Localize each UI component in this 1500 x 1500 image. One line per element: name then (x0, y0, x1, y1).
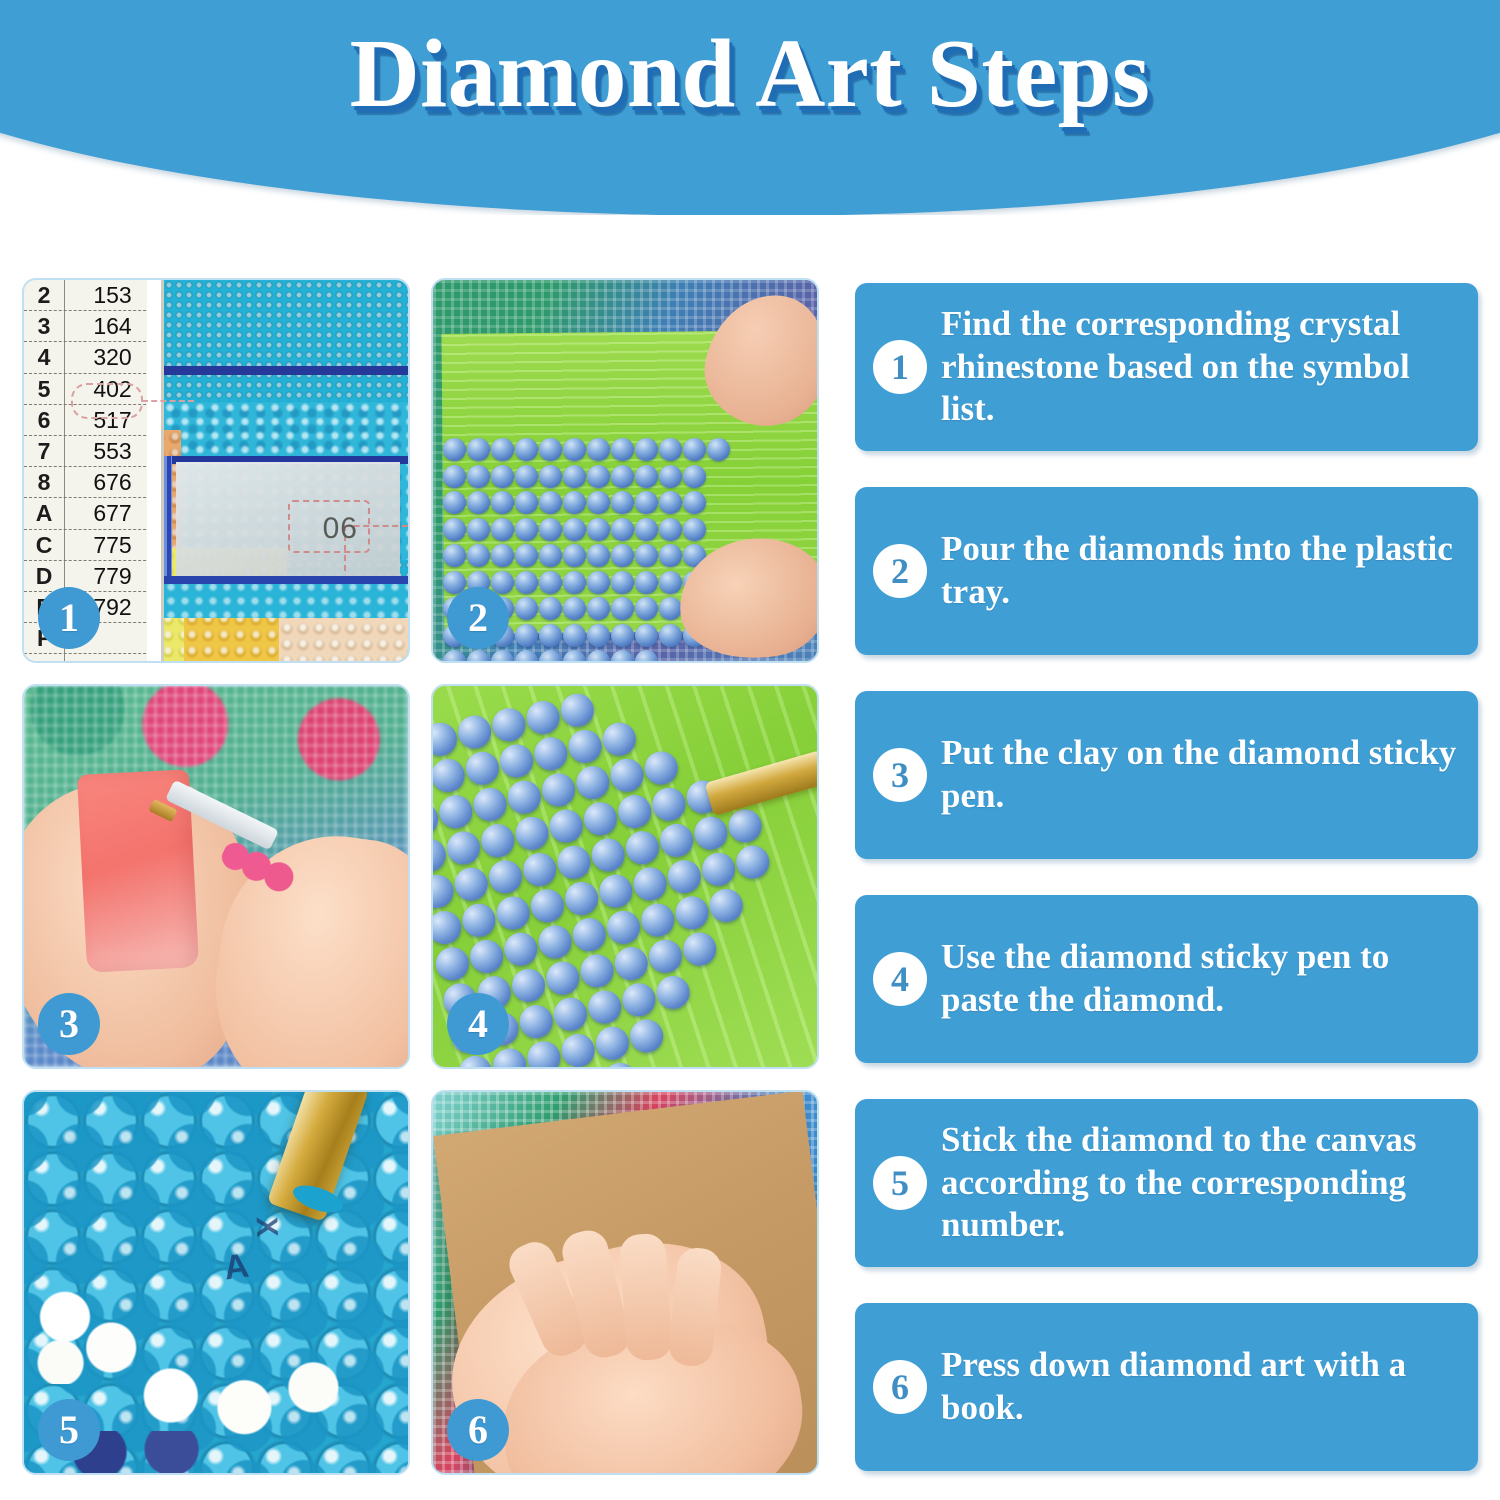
step-panel-3[interactable]: 3 Put the clay on the diamond sticky pen… (855, 691, 1478, 859)
table-row: C 775 (24, 530, 161, 561)
rhinestone-row (443, 465, 713, 492)
step-number-5: 5 (873, 1156, 927, 1210)
step-panel-5[interactable]: 5 Stick the diamond to the canvas accord… (855, 1099, 1478, 1267)
step-number-6: 6 (873, 1360, 927, 1414)
table-row: 7 553 (24, 436, 161, 467)
photo-step-6: 6 (431, 1090, 819, 1475)
photo-step-3: 3 (22, 684, 410, 1069)
step-number-3: 3 (873, 748, 927, 802)
rhinestone-row (443, 544, 713, 571)
symbol-cell: 2 (24, 280, 65, 310)
rhinestone-row (443, 518, 713, 545)
photo-step-5: X A 5 (22, 1090, 410, 1475)
symbol-cell: 4 (24, 342, 65, 372)
symbol-cell: C (24, 530, 65, 560)
rhinestone-row (443, 491, 713, 518)
step-number-2: 2 (873, 544, 927, 598)
table-row: 3 164 (24, 311, 161, 342)
highlighted-symbol-row-callout (71, 383, 143, 419)
rhinestone-row (443, 438, 713, 465)
page-title: Diamond Art Steps (0, 18, 1500, 129)
canvas-symbol-a: A (221, 1246, 251, 1288)
step-text-4: Use the diamond sticky pen to paste the … (941, 936, 1478, 1021)
step-panel-6[interactable]: 6 Press down diamond art with a book. (855, 1303, 1478, 1471)
step-number-1: 1 (873, 340, 927, 394)
step-text-5: Stick the diamond to the canvas accordin… (941, 1119, 1478, 1247)
step-panel-4[interactable]: 4 Use the diamond sticky pen to paste th… (855, 895, 1478, 1063)
lower-blue-beads (164, 580, 408, 618)
photo-badge-3: 3 (38, 993, 100, 1055)
table-row: 4 320 (24, 342, 161, 373)
photo-step-2: 2 (431, 278, 819, 663)
callout-connector (142, 400, 194, 402)
header-banner: Diamond Art Steps (0, 0, 1500, 215)
step-panel-2[interactable]: 2 Pour the diamonds into the plastic tra… (855, 487, 1478, 655)
symbol-cell: 6 (24, 405, 65, 435)
white-rhinestones-left (32, 1288, 142, 1384)
photo-step-4: 4 (431, 684, 819, 1069)
rhinestone-bag: 06 (176, 462, 400, 580)
photo-step-1: 06 2 153 3 164 4 320 (22, 278, 410, 663)
rhinestone-row (443, 650, 713, 663)
photo-badge-1: 1 (38, 587, 100, 649)
photo-badge-2: 2 (447, 587, 509, 649)
symbol-cell: G (24, 654, 65, 663)
infographic-page: Diamond Art Steps 06 (0, 0, 1500, 1500)
step-text-3: Put the clay on the diamond sticky pen. (941, 732, 1478, 817)
navy-line-bottom (146, 576, 408, 584)
finger (619, 1233, 674, 1362)
steps-list: 1 Find the corresponding crystal rhinest… (855, 283, 1478, 1500)
photo-badge-6: 6 (447, 1399, 509, 1461)
symbol-cell: A (24, 498, 65, 528)
symbol-cell: 5 (24, 374, 65, 404)
chart-white-strip (147, 280, 161, 661)
table-row: 2 153 (24, 280, 161, 311)
step-text-1: Find the corresponding crystal rhineston… (941, 303, 1478, 431)
photo-grid: 06 2 153 3 164 4 320 (22, 278, 819, 1483)
table-row: 8 676 (24, 467, 161, 498)
photo-badge-4: 4 (447, 993, 509, 1055)
symbol-cell: D (24, 561, 65, 591)
step-panel-1[interactable]: 1 Find the corresponding crystal rhinest… (855, 283, 1478, 451)
table-row: D 779 (24, 561, 161, 592)
table-row: G (24, 654, 161, 663)
bag-code-label: 06 (323, 512, 358, 546)
step-text-2: Pour the diamonds into the plastic tray. (941, 528, 1478, 613)
step-number-4: 4 (873, 952, 927, 1006)
canvas-symbol-x: X (249, 1216, 284, 1237)
symbol-cell: 8 (24, 467, 65, 497)
symbol-cell: 3 (24, 311, 65, 341)
navy-line-top (154, 366, 408, 375)
photo-badge-5: 5 (38, 1399, 100, 1461)
step-text-6: Press down diamond art with a book. (941, 1344, 1478, 1429)
table-row: A 677 (24, 498, 161, 529)
symbol-cell: 7 (24, 436, 65, 466)
